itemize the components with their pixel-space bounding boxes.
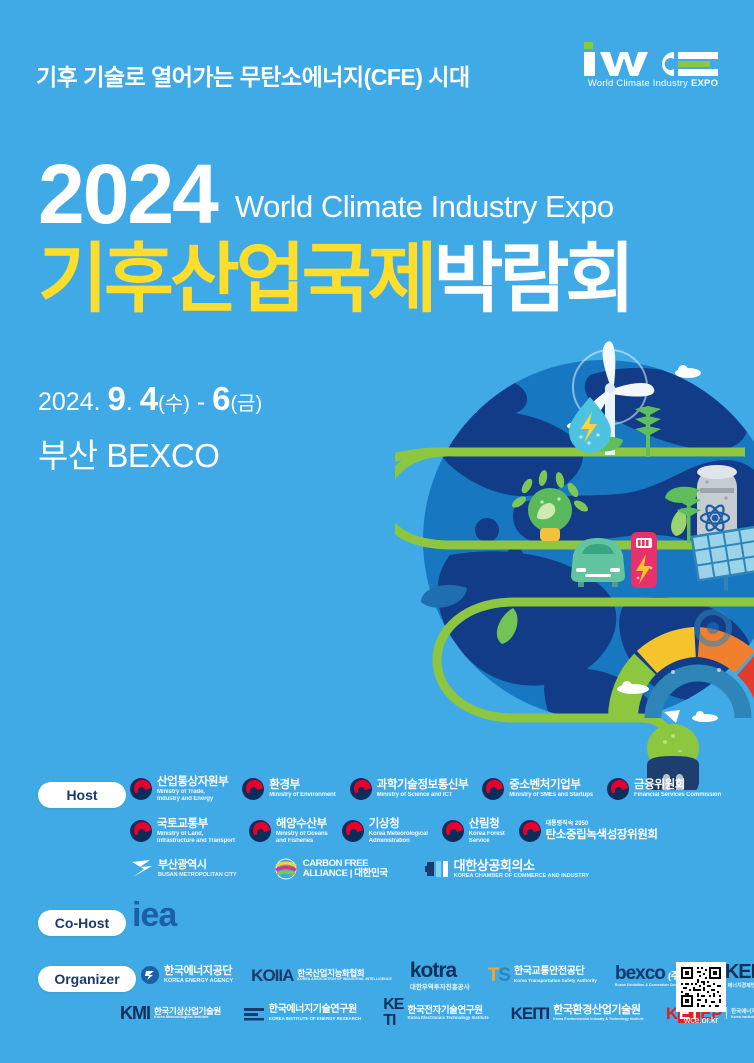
- date-range-sep: -: [190, 388, 212, 416]
- host-org-mof: 해양수산부 Ministry of Oceans and Fisheries: [249, 816, 328, 846]
- org-name-ko: 국토교통부: [157, 818, 235, 830]
- org-name-en: Ministry of Environment: [269, 792, 335, 798]
- host-row-2: 국토교통부 Ministry of Land, Infrastructure a…: [130, 816, 658, 846]
- host-org-kma: 기상청 Korea Meteorological Administration: [342, 816, 428, 846]
- host-org-busan: 부산광역시 BUSAN METROPOLITAN CITY: [130, 856, 237, 882]
- cohost-label-wrap: Co-Host: [38, 910, 126, 936]
- globe-illustration-svg: [395, 340, 754, 790]
- electric-car-icon: [571, 538, 625, 587]
- org-name-ko: 탄소중립녹색성장위원회: [546, 829, 658, 841]
- kotra-logo-icon: kotra: [410, 960, 470, 981]
- organizer-org-kea: 한국에너지공단 KOREA ENERGY AGENCY: [140, 962, 233, 988]
- org-name-ko: 산림청: [469, 818, 505, 830]
- organizer-label-wrap: Organizer: [38, 966, 136, 992]
- org-name-ko: 금융위원회: [634, 779, 721, 791]
- korean-title-yellow: 기후산업국제: [38, 237, 434, 322]
- event-venue: 부산 BEXCO: [38, 429, 262, 477]
- organizer-org-keiti: KEITI 한국환경산업기술원 Korea Environmental Indu…: [511, 1000, 644, 1026]
- org-name-en: Ministry of Science and ICT: [377, 792, 469, 798]
- globe-illustration: [395, 340, 754, 790]
- taegeuk-icon: [342, 820, 364, 842]
- host-org-moe: 환경부 Ministry of Environment: [242, 774, 335, 804]
- cohost-row: iea: [132, 902, 176, 928]
- cloud-icon-a: [675, 365, 701, 378]
- sponsor-footer: Host 산업통상자원부 Ministry of Trade, Industry…: [0, 766, 754, 1063]
- host-org-msit: 과학기술정보통신부 Ministry of Science and ICT: [350, 774, 469, 804]
- qr-code-svg: [679, 965, 723, 1009]
- taegeuk-icon: [249, 820, 271, 842]
- organizer-org-koiia: KOIIA 한국산업지능화협회 KOREA ASSOCIATION OF IND…: [251, 962, 392, 988]
- host-label-wrap: Host: [38, 782, 126, 808]
- korean-title-white: 박람회: [434, 237, 632, 322]
- host-org-motie: 산업통상자원부 Ministry of Trade, Industry and …: [130, 774, 228, 804]
- org-name-en: Korea Meteorological: [369, 831, 428, 837]
- host-row-3: 부산광역시 BUSAN METROPOLITAN CITY CARBON FRE…: [130, 856, 589, 882]
- date-day-start: 4: [140, 380, 158, 417]
- organizer-org-keti: KE TI 한국전자기술연구원 Korea Electronics Techno…: [383, 1000, 488, 1026]
- bexco-logo-icon: bexco: [615, 964, 665, 983]
- wce-logo-svg: [582, 42, 724, 76]
- org-name-ko: 한국에너지기술연구원: [269, 1005, 361, 1016]
- wce-logo-subtitle: World Climate Industry EXPO: [582, 78, 724, 89]
- date-month: 9: [108, 380, 126, 417]
- org-name-en: Ministry of SMEs and Startups: [509, 792, 593, 798]
- wce-logo: World Climate Industry EXPO: [582, 42, 724, 92]
- org-name-ko: 부산광역시: [158, 860, 237, 872]
- organizer-row-2: KMI 한국기상산업기술원 Korea Meteorological Insti…: [120, 1000, 754, 1026]
- date-dow-end: (금): [230, 393, 262, 415]
- org-name-ko: 중소벤처기업부: [509, 779, 593, 791]
- org-name-en: Korea Transportation Safety Authority: [514, 978, 597, 983]
- org-name-en: Korea Meteorological Institute: [154, 1015, 221, 1019]
- event-info: 2024. 9. 4(수) - 6(금) 부산 BEXCO: [38, 381, 262, 477]
- org-name-en: KOREA CHAMBER OF COMMERCE AND INDUSTRY: [454, 873, 589, 879]
- org-name-ko: 환경부: [269, 779, 335, 791]
- org-name-en2: Administration: [369, 838, 428, 844]
- host-badge: Host: [38, 782, 126, 808]
- host-row-1: 산업통상자원부 Ministry of Trade, Industry and …: [130, 774, 721, 804]
- taegeuk-icon: [350, 778, 372, 800]
- org-name-en: Ministry of Trade,: [157, 789, 228, 795]
- org-name-en: Korea Institute of Energy Technology Eva…: [731, 1015, 754, 1019]
- date-year: 2024.: [38, 388, 108, 416]
- qr-code-block[interactable]: wce.or.kr: [670, 962, 732, 1025]
- taegeuk-icon: [442, 820, 464, 842]
- organizer-org-ts: TS 한국교통안전공단 Korea Transportation Safety …: [488, 962, 597, 988]
- event-date: 2024. 9. 4(수) - 6(금): [38, 381, 262, 417]
- wce-logo-mark: [582, 42, 724, 76]
- org-name-ko: 해양수산부: [276, 818, 328, 830]
- org-prefix: 대통령직속 2050: [546, 821, 658, 827]
- org-name-en: ALLIANCE | 대한민국: [303, 869, 388, 879]
- org-name-en: Korea Environmental Industry & Technolog…: [553, 1017, 644, 1021]
- org-name-ko: 과학기술정보통신부: [377, 779, 469, 791]
- org-name-ko: 산업통상자원부: [157, 776, 228, 788]
- cohost-org-iea: iea: [132, 902, 176, 928]
- host-org-kcci: 대한상공회의소 KOREA CHAMBER OF COMMERCE AND IN…: [424, 856, 589, 882]
- org-name-en: Financial Services Commission: [634, 792, 721, 798]
- org-name-ko: 한국에너지기술평가원: [731, 1007, 754, 1015]
- kea-logo-icon: [140, 965, 160, 985]
- org-name-ko: 한국산업지능화협회: [297, 969, 391, 978]
- english-subtitle: World Climate Industry Expo: [235, 191, 614, 229]
- host-org-molit: 국토교통부 Ministry of Land, Infrastructure a…: [130, 816, 235, 846]
- org-name-en: KOREA INSTITUTE OF ENERGY RESEARCH: [269, 1016, 361, 1021]
- koiia-logo-icon: KOIIA: [251, 967, 293, 984]
- org-name-ko: 한국전자기술연구원: [407, 1006, 488, 1016]
- wce-sub-bold: EXPO: [691, 78, 718, 89]
- org-name-en: Korea Forest: [469, 831, 505, 837]
- date-sep: .: [126, 388, 140, 416]
- carbon-free-alliance-icon: [273, 858, 299, 880]
- taegeuk-icon: [130, 820, 152, 842]
- org-name-ko: 한국교통안전공단: [514, 967, 597, 978]
- poster-root: 기후 기술로 열어가는 무탄소에너지(CFE) 시대 World Climate…: [0, 0, 754, 1063]
- wce-sub-light: World Climate Industry: [588, 78, 691, 89]
- organizer-org-kotra: kotra 대한무역투자진흥공사: [410, 962, 470, 988]
- busan-logo-icon: [130, 858, 154, 880]
- keiti-logo-icon: KEITI: [511, 1005, 549, 1022]
- taegeuk-icon: [607, 778, 629, 800]
- tagline: 기후 기술로 열어가는 무탄소에너지(CFE) 시대: [36, 58, 470, 92]
- taegeuk-icon: [242, 778, 264, 800]
- kier-logo-icon: [243, 1005, 265, 1021]
- org-name-ko: 한국환경산업기술원: [553, 1005, 644, 1017]
- org-name-en2: and Fisheries: [276, 838, 328, 844]
- host-org-cfa: CARBON FREE ALLIANCE | 대한민국: [273, 856, 388, 882]
- org-name-ko: 한국에너지공단: [164, 966, 233, 978]
- organizer-org-kier: 한국에너지기술연구원 KOREA INSTITUTE OF ENERGY RES…: [243, 1000, 361, 1026]
- org-name-en: Ministry of Land,: [157, 831, 235, 837]
- org-name-ko: 한국기상산업기술원: [154, 1007, 221, 1016]
- org-name-en: KOREA ASSOCIATION OF INDUSTRIAL INTELLIG…: [297, 977, 391, 981]
- organizer-row-1: 한국에너지공단 KOREA ENERGY AGENCY KOIIA 한국산업지능…: [140, 962, 754, 988]
- cohost-badge: Co-Host: [38, 910, 126, 936]
- organizer-badge: Organizer: [38, 966, 136, 992]
- org-name-en: Korea Electronics Technology Institute: [407, 1015, 488, 1020]
- org-name-ko: 기상청: [369, 818, 428, 830]
- org-name-en2: Industry and Energy: [157, 796, 228, 802]
- kmi-logo-icon: KMI: [120, 1004, 150, 1022]
- kcci-logo-icon: [424, 858, 450, 880]
- org-name-en2: Service: [469, 838, 505, 844]
- org-name-en: KOREA ENERGY AGENCY: [164, 978, 233, 984]
- date-dow-start: (수): [158, 393, 190, 415]
- org-name-en: 대한무역투자진흥공사: [410, 981, 470, 991]
- org-name-en: BUSAN METROPOLITAN CITY: [158, 872, 237, 878]
- title-row-korean: 기후산업국제박람회: [38, 241, 631, 319]
- host-org-mss: 중소벤처기업부 Ministry of SMEs and Startups: [482, 774, 593, 804]
- ts-logo-icon: TS: [488, 966, 510, 985]
- host-org-fsc: 금융위원회 Financial Services Commission: [607, 774, 721, 804]
- org-name-en2: Infrastructure and Transport: [157, 838, 235, 844]
- taegeuk-icon: [130, 778, 152, 800]
- qr-code-image: [676, 962, 726, 1012]
- cloud-icon-d: [692, 711, 718, 722]
- date-day-end: 6: [212, 380, 230, 417]
- org-name-ko: 대한상공회의소: [454, 859, 589, 873]
- iea-logo-icon: iea: [132, 898, 176, 932]
- organizer-org-kmi: KMI 한국기상산업기술원 Korea Meteorological Insti…: [120, 1000, 221, 1026]
- host-org-forest: 산림청 Korea Forest Service: [442, 816, 505, 846]
- website-url: wce.or.kr: [670, 1015, 732, 1025]
- charging-station-icon: [631, 532, 657, 588]
- event-year: 2024: [38, 160, 217, 229]
- taegeuk-icon: [482, 778, 504, 800]
- host-org-2050ccnc: 대통령직속 2050 탄소중립녹색성장위원회: [519, 816, 658, 846]
- taegeuk-icon: [519, 820, 541, 842]
- title-row-primary: 2024 World Climate Industry Expo: [38, 160, 631, 229]
- org-name-en: Ministry of Oceans: [276, 831, 328, 837]
- title-block: 2024 World Climate Industry Expo 기후산업국제박…: [38, 160, 631, 318]
- keti-logo-icon: KE TI: [383, 997, 403, 1029]
